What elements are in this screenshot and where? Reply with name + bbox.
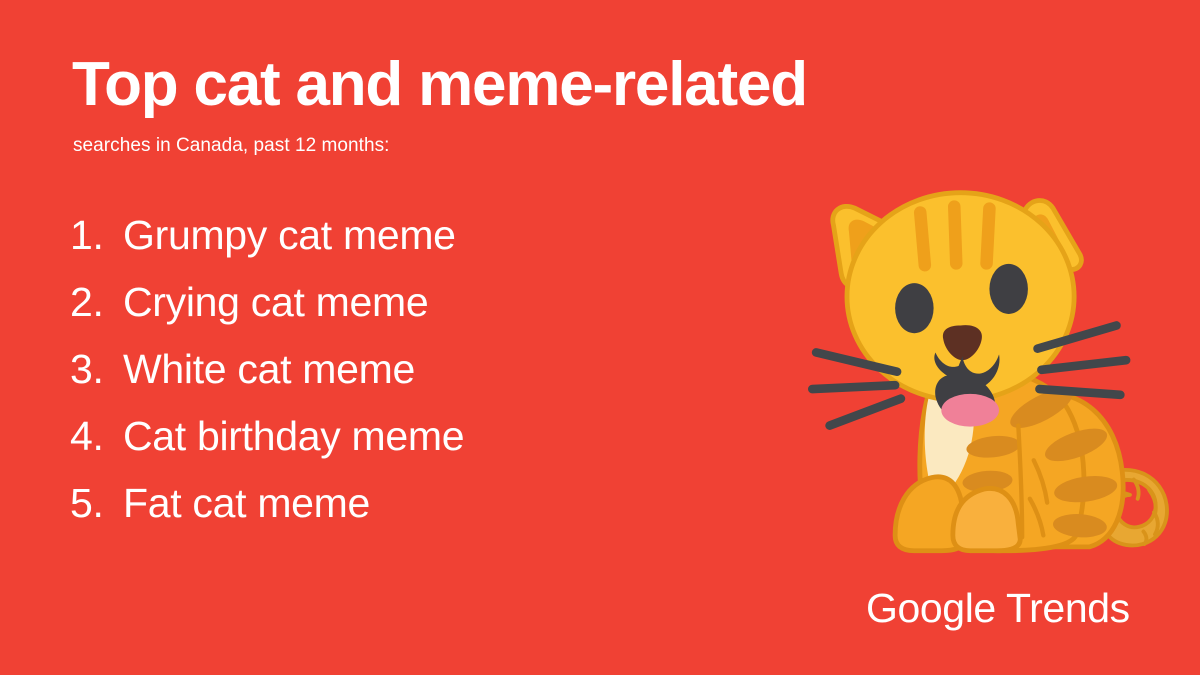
list-item-rank: 3.: [70, 346, 123, 393]
list-item-label: Grumpy cat meme: [123, 212, 456, 259]
list-item-rank: 2.: [70, 279, 123, 326]
list-item: 1. Grumpy cat meme: [70, 212, 690, 279]
trends-poster: Top cat and meme-related searches in Can…: [0, 0, 1200, 675]
list-item-rank: 1.: [70, 212, 123, 259]
list-item-label: Crying cat meme: [123, 279, 428, 326]
page-subtitle: searches in Canada, past 12 months:: [73, 136, 952, 157]
list-item-label: White cat meme: [123, 346, 415, 393]
top-searches-list: 1. Grumpy cat meme 2. Crying cat meme 3.…: [70, 212, 690, 547]
list-item-rank: 4.: [70, 413, 123, 460]
list-item: 2. Crying cat meme: [70, 279, 690, 346]
list-item-rank: 5.: [70, 480, 123, 527]
list-item: 3. White cat meme: [70, 346, 690, 413]
list-item: 5. Fat cat meme: [70, 480, 690, 547]
google-trends-logo: Google Trends: [866, 588, 1130, 629]
list-item-label: Fat cat meme: [123, 480, 370, 527]
cat-icon: [795, 168, 1180, 560]
list-item: 4. Cat birthday meme: [70, 413, 690, 480]
list-item-label: Cat birthday meme: [123, 413, 464, 460]
headline-block: Top cat and meme-related searches in Can…: [72, 54, 952, 157]
page-title: Top cat and meme-related: [72, 54, 952, 116]
